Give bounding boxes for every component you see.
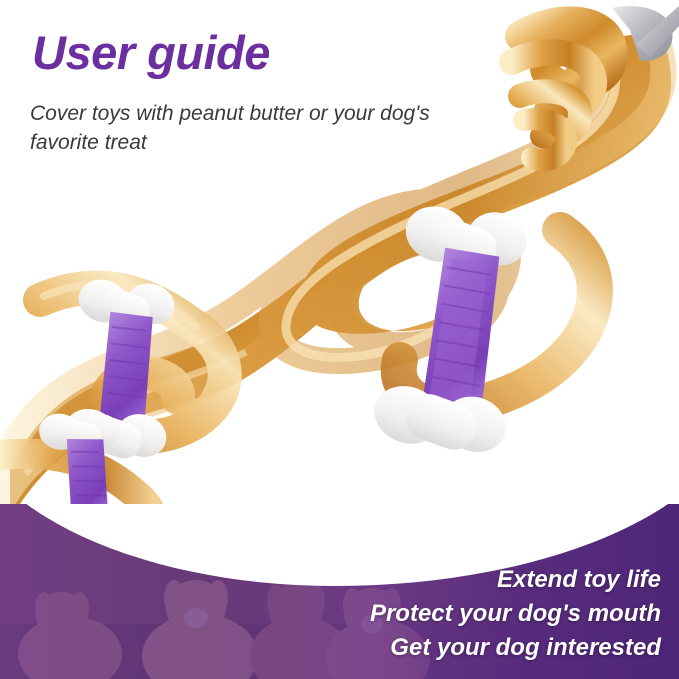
page-title: User guide [32, 28, 270, 77]
benefit-item-2: Protect your dog's mouth [370, 597, 661, 631]
benefits-list: Extend toy life Protect your dog's mouth… [370, 563, 661, 665]
page-subtitle: Cover toys with peanut butter or your do… [30, 100, 450, 158]
product-infographic: User guide Cover toys with peanut butter… [0, 0, 679, 679]
benefit-item-1: Extend toy life [370, 563, 661, 597]
benefit-item-3: Get your dog interested [370, 631, 661, 665]
benefits-band: Extend toy life Protect your dog's mouth… [0, 504, 679, 679]
